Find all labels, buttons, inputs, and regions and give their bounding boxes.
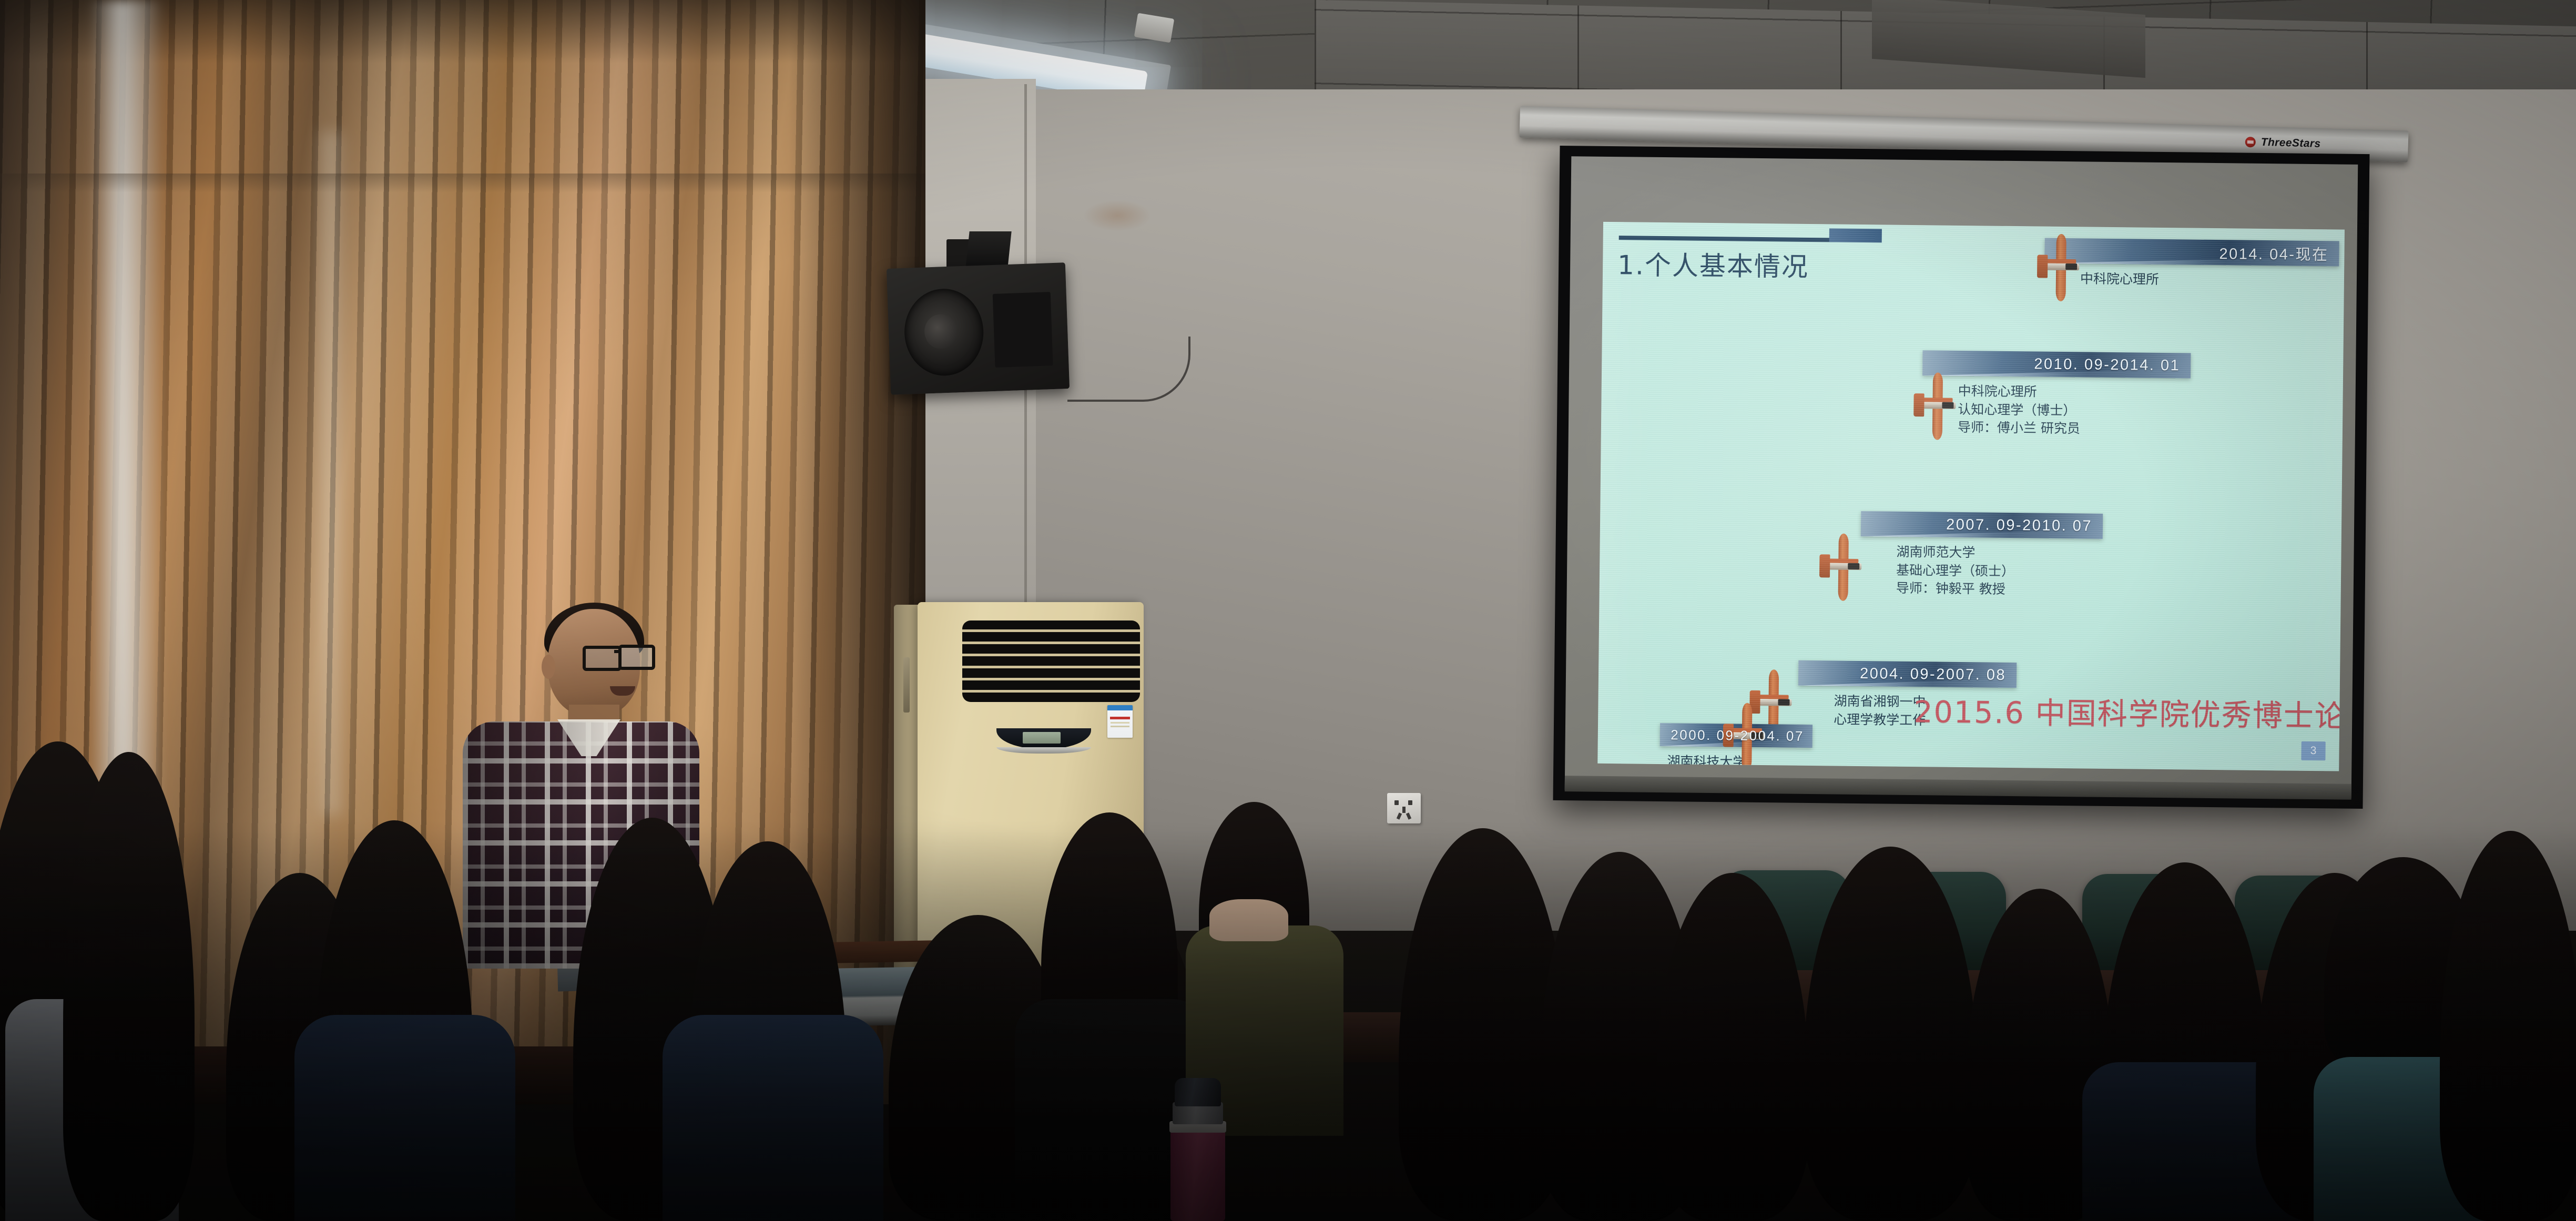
ac-side-handle <box>903 657 910 713</box>
slide-highlight-text: 2015.6 中国科学院优秀博士论文 <box>1913 688 2345 736</box>
timeline-detail-block: 中科院心理所 <box>2044 270 2339 291</box>
timeline-detail-line: 湖南师范大学 <box>1896 543 2102 564</box>
speaker-cone-icon <box>903 288 985 377</box>
timeline-banner: 2014. 04-现在 <box>2044 238 2339 267</box>
timeline-date: 2004. 09-2007. 08 <box>1860 665 2006 684</box>
ac-energy-label <box>1107 705 1133 738</box>
timeline-detail-line: 中科院心理所 <box>1958 382 2191 403</box>
timeline-banner: 2004. 09-2007. 08 <box>1798 660 2017 688</box>
timeline-banner: 2010. 09-2014. 01 <box>1922 350 2191 378</box>
timeline-entry: 2014. 04-现在 中科院心理所 <box>2044 238 2339 291</box>
timeline-date: 2014. 04-现在 <box>2219 241 2328 264</box>
glasses-bridge <box>614 650 620 653</box>
projection-screen: 1.个人基本情况 2014. 04-现在 中科院心理所 2010. <box>1553 146 2370 809</box>
timeline-detail-line: 导师：傅小兰 研究员 <box>1958 419 2190 439</box>
ac-display <box>1023 732 1061 744</box>
presentation-slide: 1.个人基本情况 2014. 04-现在 中科院心理所 2010. <box>1597 222 2345 771</box>
curtain-rod-shadow <box>0 174 925 192</box>
airplane-icon <box>1826 533 1861 601</box>
speaker-port <box>993 292 1053 368</box>
ac-air-grille <box>962 620 1140 702</box>
slide-title-accent <box>1829 228 1882 242</box>
timeline-date: 2010. 09-2014. 01 <box>2034 355 2180 374</box>
timeline-detail-line: 导师：钟毅平 教授 <box>1896 579 2102 600</box>
airplane-icon <box>2043 234 2079 302</box>
timeline-date: 2000. 09-2004. 07 <box>1671 727 1804 745</box>
slide-number-badge: 3 <box>2301 741 2325 760</box>
timeline-detail-block: 中科院心理所 认知心理学（博士） 导师：傅小兰 研究员 <box>1922 382 2191 439</box>
wall-stain <box>1083 200 1152 231</box>
presenter-ear <box>542 655 555 679</box>
glasses-icon <box>618 645 655 670</box>
audience-person-jacket <box>663 1015 883 1221</box>
three-stars-logo-icon <box>2245 137 2256 148</box>
window-light-secondary <box>315 131 347 815</box>
projection-screen-surface: 1.个人基本情况 2014. 04-现在 中科院心理所 2010. <box>1565 156 2358 798</box>
timeline-detail-line: 基础心理学（硕士） <box>1896 561 2102 582</box>
projector-brand-label: ThreeStars <box>2261 136 2320 150</box>
audience-person-face <box>1209 899 1288 941</box>
wall-speaker <box>887 262 1070 395</box>
timeline-detail-line: 认知心理学（博士） <box>1958 400 2190 421</box>
timeline-date: 2007. 09-2010. 07 <box>1946 516 2092 535</box>
slide-title-rule <box>1619 236 1840 242</box>
slide-title: 1.个人基本情况 <box>1617 244 1809 284</box>
casing-brand-group: ThreeStars <box>2245 135 2324 151</box>
window-light-gap <box>89 0 160 820</box>
audience-person-jacket <box>294 1015 515 1221</box>
timeline-detail-line: 中科院心理所 <box>2080 270 2339 291</box>
power-outlet-icon <box>1387 793 1421 823</box>
airplane-icon <box>1920 372 1955 440</box>
thermos-cap <box>1175 1078 1221 1106</box>
thermos-bottle[interactable] <box>1165 1066 1230 1221</box>
lecture-hall-photo: ThreeStars 1.个人基本情况 2014. 04-现在 中科院心理所 <box>0 0 2576 1221</box>
timeline-banner: 2007. 09-2010. 07 <box>1861 511 2103 539</box>
timeline-detail-line: 应用心理学（本科） <box>1667 771 1812 771</box>
thermos-body <box>1170 1128 1225 1221</box>
timeline-detail-block: 湖南师范大学 基础心理学（硕士） 导师：钟毅平 教授 <box>1860 543 2103 599</box>
speaker-mount-bracket <box>965 231 1011 268</box>
timeline-entry: 2007. 09-2010. 07 湖南师范大学 基础心理学（硕士） 导师：钟毅… <box>1860 511 2103 599</box>
timeline-entry: 2010. 09-2014. 01 中科院心理所 认知心理学（博士） 导师：傅小… <box>1922 350 2191 439</box>
